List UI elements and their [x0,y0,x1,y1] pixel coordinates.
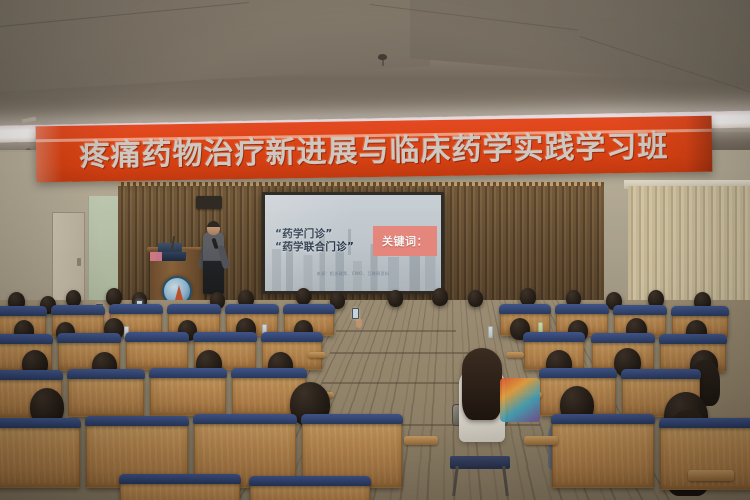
auditorium-seat[interactable] [552,420,654,488]
attendee-phone [352,308,359,319]
seat-armrest [308,352,326,358]
attendee-hand [356,318,362,328]
seat-armrest [688,470,734,481]
auditorium-seat[interactable] [120,480,240,500]
slide-heading-line2: “药学联合门诊” [275,241,385,254]
slide-keyword-box: 关键词： [373,226,437,256]
wall-loudspeaker [196,196,222,209]
attendee-head [296,288,311,305]
slide-heading: “药学门诊” “药学联合门诊” [275,228,385,254]
auditorium-seat[interactable] [0,424,80,488]
aisle-step-edge [330,352,480,354]
banner-title-text: 疼痛药物治疗新进展与临床药学实践学习班 [36,128,713,177]
slide-footer-note: 来源：相关政策、CNKI、互联网资料 [265,271,441,277]
auditorium-seat[interactable] [150,374,226,416]
auditorium-seat[interactable] [126,338,188,370]
folding-chair-leg [502,466,509,496]
aisle-step-edge [336,330,456,332]
auditorium-seat[interactable] [68,375,144,417]
auditorium-seat[interactable] [250,482,370,500]
colorful-tote-bag [500,378,540,422]
ceiling-panel-left [0,0,430,92]
attendee-head [432,288,448,306]
presenter-head [207,221,220,235]
attendee-long-hair [462,348,502,420]
seat-armrest [506,352,524,358]
ceiling-sprinkler-head [378,54,387,65]
event-banner: 疼痛药物治疗新进展与临床药学实践学习班 [36,116,713,183]
lectern-name-card [150,252,162,261]
water-bottle [488,326,493,338]
folding-chair-seat [450,456,510,469]
beige-pleated-curtain [628,186,750,314]
seat-armrest [404,436,438,445]
attendee-head [468,290,483,307]
seat-armrest [524,436,558,445]
lecture-hall-photo: “药学门诊” “药学联合门诊” 关键词： 来源：相关政策、CNKI、互联网资料 … [0,0,750,500]
folding-chair-leg [452,466,459,496]
projection-screen: “药学门诊” “药学联合门诊” 关键词： 来源：相关政策、CNKI、互联网资料 [262,192,444,294]
slide-keyword-label: 关键词： [382,233,428,249]
attendee-head [388,290,403,307]
slide-heading-line1: “药学门诊” [275,228,385,241]
